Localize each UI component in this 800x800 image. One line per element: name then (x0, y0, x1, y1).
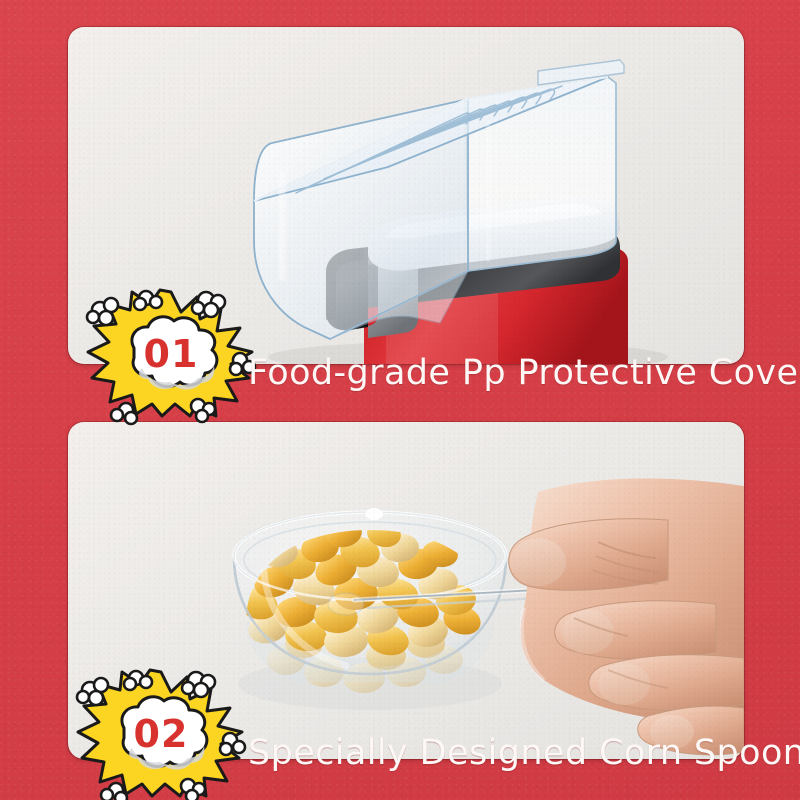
hand-holding-spoon (509, 478, 744, 754)
feature-badge-1: 01 (82, 288, 260, 416)
badge-number-text: 02 (134, 712, 189, 756)
feature-caption-1: Food-grade Pp Protective Cover (248, 353, 800, 393)
product-feature-poster: 01 (0, 0, 800, 800)
badge-number-text: 01 (144, 332, 199, 376)
comic-burst-badge-02: 02 (72, 668, 250, 796)
feature-badge-2: 02 (72, 668, 250, 796)
comic-burst-badge-01: 01 (82, 288, 260, 416)
feature-caption-2: Specially Designed Corn Spoon (248, 733, 800, 773)
